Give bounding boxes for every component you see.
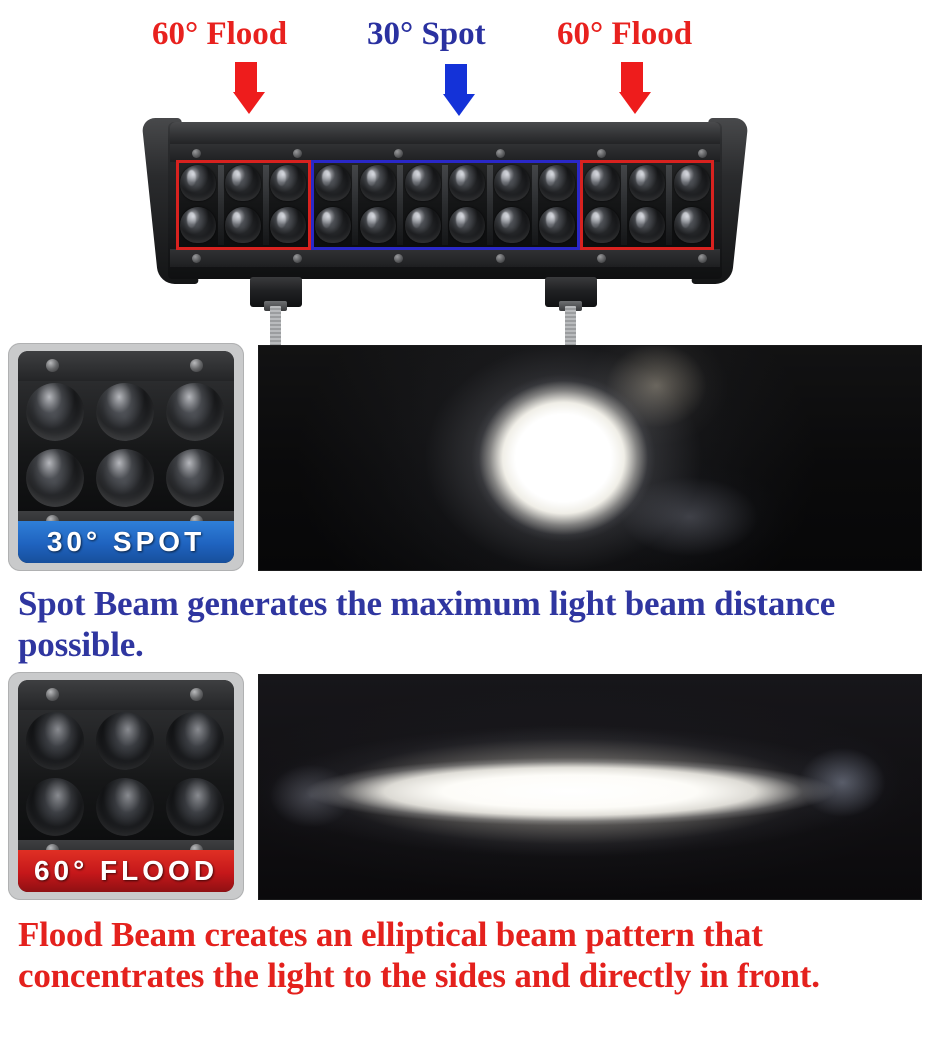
spot-comparison-row: 30° SPOT <box>0 343 926 573</box>
closeup-led-lens <box>26 712 84 770</box>
mounting-bolt-left <box>270 306 281 348</box>
header-label-spot-center: 30° Spot <box>367 14 486 54</box>
flood-lens-closeup: 60° FLOOD <box>8 672 244 900</box>
arrow-head <box>619 92 651 114</box>
group-box-spot-center <box>311 160 580 250</box>
closeup-led-lens <box>166 383 224 441</box>
closeup-led-lens <box>26 778 84 836</box>
housing-screw <box>496 254 505 263</box>
arrow-head <box>233 92 265 114</box>
housing-screw <box>698 149 707 158</box>
light-bar-screw-rail-bottom <box>170 249 720 267</box>
arrow-head <box>443 94 475 116</box>
header-label-flood-left: 60° Flood <box>152 14 287 54</box>
arrow-down-icon-flood-left <box>233 62 259 114</box>
closeup-led-array-flood <box>18 710 234 840</box>
closeup-screw <box>46 359 59 372</box>
closeup-led-lens <box>166 778 224 836</box>
closeup-led-lens <box>166 449 224 507</box>
arrow-shaft <box>621 62 643 92</box>
housing-screw <box>394 254 403 263</box>
closeup-led-array-spot <box>18 381 234 511</box>
housing-screw <box>597 254 606 263</box>
closeup-screw <box>190 688 203 701</box>
flood-closeup-image: 60° FLOOD <box>18 680 234 892</box>
mounting-bolt-right <box>565 306 576 348</box>
spot-banner-label: 30° SPOT <box>47 526 205 558</box>
arrow-down-icon-flood-right <box>619 62 645 114</box>
closeup-led-lens <box>26 449 84 507</box>
flood-comparison-row: 60° FLOOD <box>0 672 926 902</box>
housing-screw <box>192 254 201 263</box>
flood-caption: Flood Beam creates an elliptical beam pa… <box>18 914 908 996</box>
group-box-flood-right <box>580 160 715 250</box>
spot-banner: 30° SPOT <box>18 521 234 563</box>
housing-screw <box>597 149 606 158</box>
spot-lens-closeup: 30° SPOT <box>8 343 244 571</box>
closeup-led-lens <box>96 712 154 770</box>
closeup-led-lens <box>96 449 154 507</box>
housing-screw <box>293 149 302 158</box>
spot-beam-photo <box>258 345 922 571</box>
header-label-flood-right: 60° Flood <box>557 14 692 54</box>
housing-screw <box>698 254 707 263</box>
group-box-flood-left <box>176 160 311 250</box>
spot-caption: Spot Beam generates the maximum light be… <box>18 583 908 665</box>
flood-beam-photo <box>258 674 922 900</box>
flood-banner-label: 60° FLOOD <box>34 855 218 887</box>
closeup-screw <box>46 688 59 701</box>
closeup-led-lens <box>96 778 154 836</box>
closeup-led-lens <box>166 712 224 770</box>
closeup-led-lens <box>96 383 154 441</box>
housing-screw <box>192 149 201 158</box>
led-light-bar <box>150 116 740 336</box>
flood-banner: 60° FLOOD <box>18 850 234 892</box>
closeup-screw <box>190 359 203 372</box>
housing-screw <box>496 149 505 158</box>
arrow-shaft <box>445 64 467 94</box>
housing-screw <box>293 254 302 263</box>
arrow-shaft <box>235 62 257 92</box>
housing-screw <box>394 149 403 158</box>
header-label-group: 60° Flood 30° Spot 60° Flood <box>0 14 926 58</box>
spot-closeup-image: 30° SPOT <box>18 351 234 563</box>
arrow-down-icon-spot-center <box>443 64 469 116</box>
closeup-led-lens <box>26 383 84 441</box>
light-bar-top-rail <box>170 122 720 144</box>
